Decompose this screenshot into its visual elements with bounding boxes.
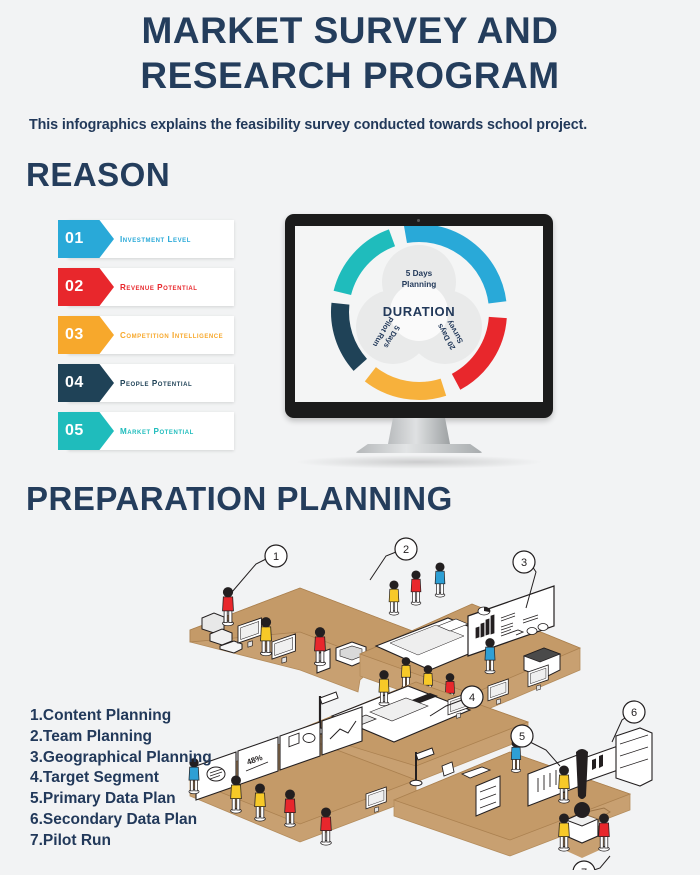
callout-marker-3[interactable]: 3: [513, 551, 535, 573]
reason-list: 01 Investment Level 02 Revenue Potential…: [58, 220, 234, 460]
petal-planning-label-line1: 5 Days: [406, 269, 433, 278]
callout-marker-5[interactable]: 5: [511, 725, 533, 747]
callout-marker-4-label: 4: [469, 692, 475, 704]
lab-monitor-board: [584, 746, 618, 782]
callout-marker-3-label: 3: [521, 557, 527, 569]
monitor-bezel: 5 Days Planning 20 Days Survey 5 Days Pi…: [285, 214, 553, 418]
callout-marker-5-label: 5: [519, 731, 525, 743]
page-title-line1: MARKET SURVEY AND: [142, 10, 559, 51]
prep-item-7: 7.Pilot Run: [30, 831, 212, 852]
callout-marker-6-label: 6: [631, 707, 637, 719]
reason-label: Competition Intelligence: [120, 316, 224, 354]
prep-item-3: 3.Geographical Planning: [30, 748, 212, 769]
reason-item-3[interactable]: 03 Competition Intelligence: [58, 316, 234, 354]
callout-marker-1[interactable]: 1: [265, 545, 287, 567]
reason-number: 03: [65, 326, 84, 344]
person-blue-1: [435, 562, 445, 597]
reason-number: 05: [65, 422, 84, 440]
reason-label: Investment Level: [120, 220, 224, 258]
reason-label: Revenue Potential: [120, 268, 224, 306]
reason-item-1[interactable]: 01 Investment Level: [58, 220, 234, 258]
reason-label: Market Potential: [120, 412, 224, 450]
infographic-page: MARKET SURVEY AND RESEARCH PROGRAM This …: [0, 0, 700, 874]
reason-label: People Potential: [120, 364, 224, 402]
reason-number: 04: [65, 374, 84, 392]
reason-number: 01: [65, 230, 84, 248]
prep-item-6: 6.Secondary Data Plan: [30, 810, 212, 831]
person-yellow-2: [389, 580, 399, 615]
monitor-screen: 5 Days Planning 20 Days Survey 5 Days Pi…: [295, 226, 543, 402]
prep-item-1: 1.Content Planning: [30, 706, 212, 727]
callout-marker-2[interactable]: 2: [395, 538, 417, 560]
duration-donut-chart: 5 Days Planning 20 Days Survey 5 Days Pi…: [295, 226, 543, 402]
callout-marker-4[interactable]: 4: [461, 686, 483, 708]
monitor-illustration: 5 Days Planning 20 Days Survey 5 Days Pi…: [285, 214, 553, 469]
preparation-steps-list: 1.Content Planning 2.Team Planning 3.Geo…: [30, 706, 212, 852]
callout-marker-2-label: 2: [403, 544, 409, 556]
section-heading-preparation: PREPARATION PLANNING: [26, 480, 453, 518]
callout-marker-6[interactable]: 6: [623, 701, 645, 723]
isometric-office-illustration: 48%: [180, 530, 700, 870]
reason-item-5[interactable]: 05 Market Potential: [58, 412, 234, 450]
section-heading-reason: REASON: [26, 156, 170, 194]
person-red-3: [411, 570, 421, 605]
petal-planning-label-line2: Planning: [402, 280, 437, 289]
monitor-neck: [388, 418, 450, 444]
prep-item-2: 2.Team Planning: [30, 727, 212, 748]
page-title-line2: RESEARCH PROGRAM: [0, 53, 700, 98]
prep-item-4: 4.Target Segment: [30, 768, 212, 789]
webcam-icon: [417, 219, 420, 222]
donut-center-label: DURATION: [383, 304, 455, 319]
reason-number: 02: [65, 278, 84, 296]
reason-item-4[interactable]: 04 People Potential: [58, 364, 234, 402]
callout-marker-1-label: 1: [273, 551, 279, 563]
analysis-arc: [370, 374, 443, 391]
storage-cabinet: [616, 728, 652, 786]
monitor-shadow: [294, 455, 544, 469]
monitor-base: [355, 444, 483, 453]
prep-item-5: 5.Primary Data Plan: [30, 789, 212, 810]
callout-marker-7-label: 7: [581, 867, 587, 870]
callout-marker-7[interactable]: 7: [573, 861, 595, 870]
page-title: MARKET SURVEY AND RESEARCH PROGRAM: [0, 8, 700, 98]
reason-item-2[interactable]: 02 Revenue Potential: [58, 268, 234, 306]
page-subtitle: This infographics explains the feasibili…: [29, 117, 587, 133]
person-red-5: [321, 807, 332, 845]
